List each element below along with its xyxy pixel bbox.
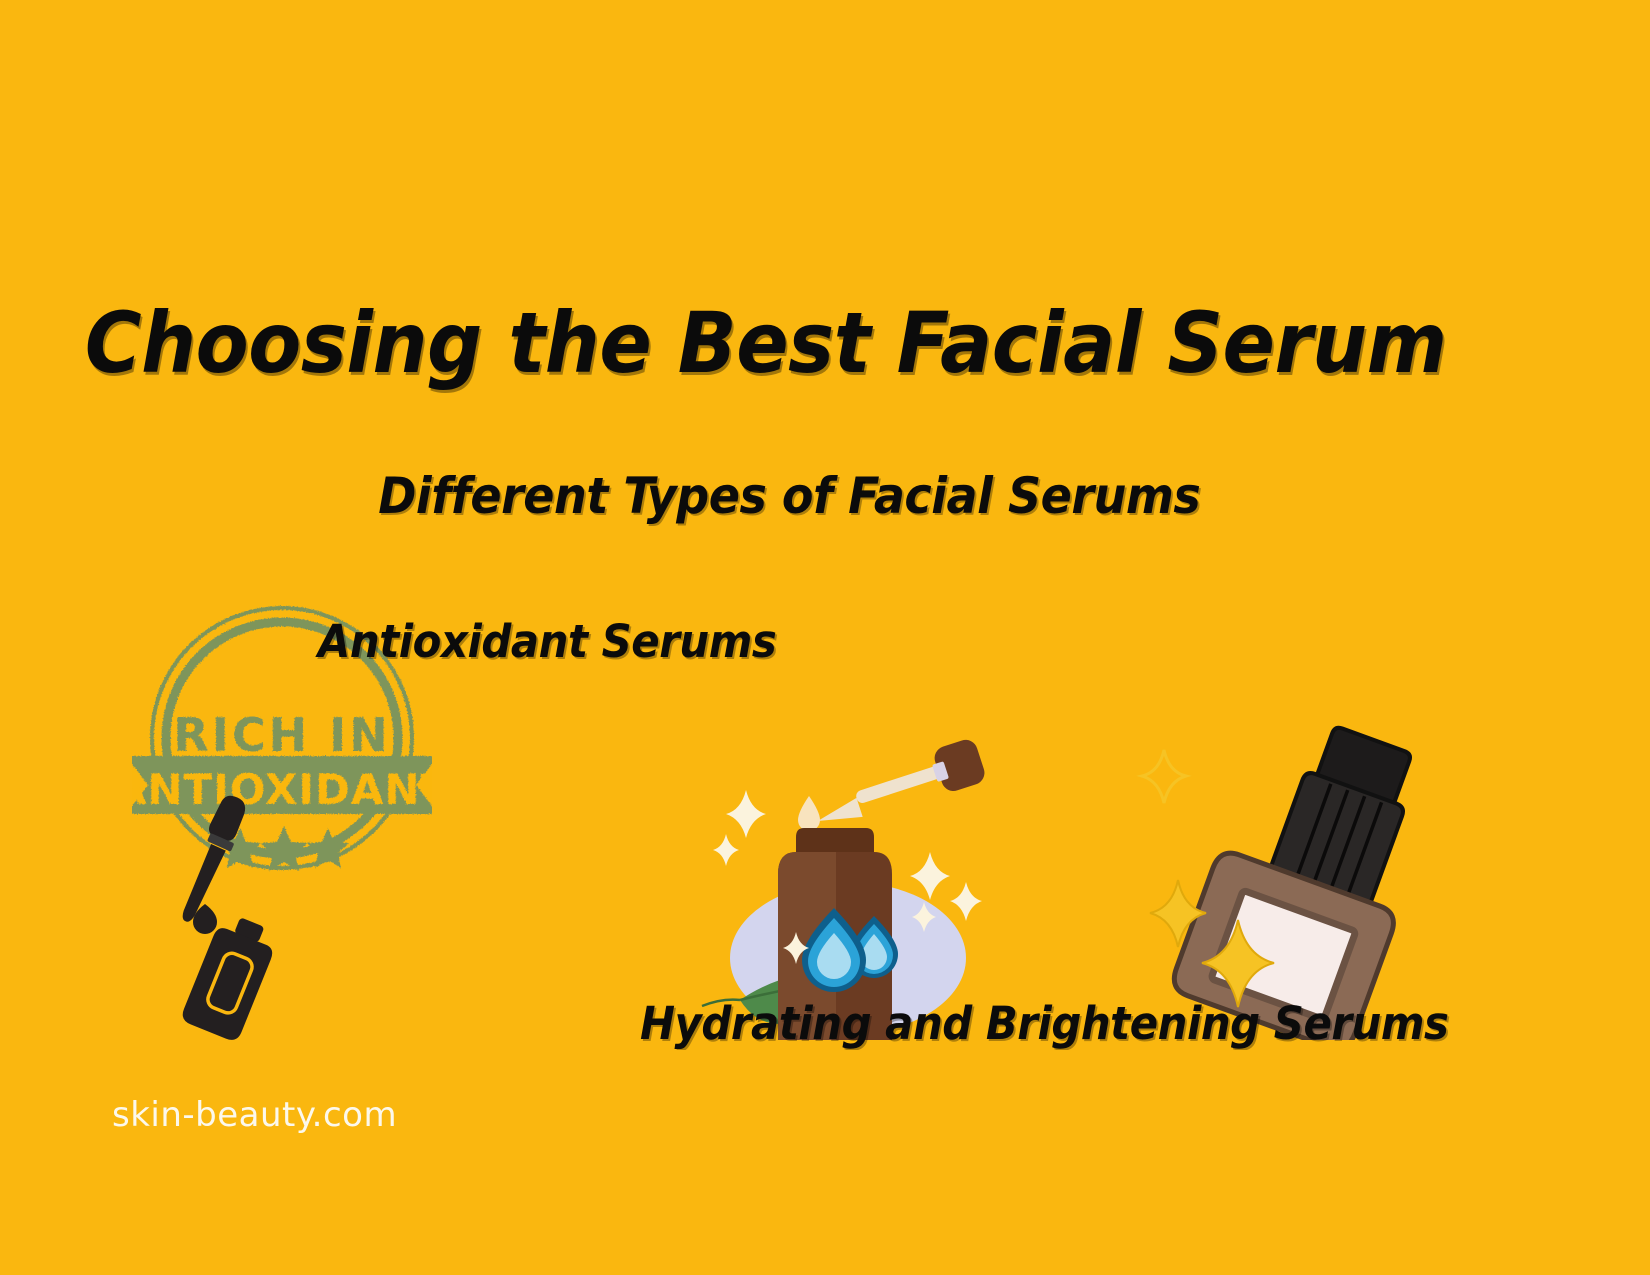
page-subtitle: Different Types of Facial Serums	[378, 467, 1200, 525]
watermark-text: skin-beauty.com	[112, 1095, 397, 1135]
section-label-hydrating: Hydrating and Brightening Serums	[640, 997, 1448, 1050]
brightening-serum-bottle-icon	[1128, 720, 1448, 1040]
stamp-line1: RICH IN	[173, 708, 390, 762]
hydrating-serum-bottle-icon	[668, 700, 1028, 1040]
dropper-bottle-silhouette-icon	[145, 790, 325, 1040]
poster-canvas: RICH IN ANTIOXIDANT	[0, 0, 1650, 1275]
page-title: Choosing the Best Facial Serum	[85, 294, 1447, 392]
section-label-antioxidant: Antioxidant Serums	[318, 615, 776, 668]
